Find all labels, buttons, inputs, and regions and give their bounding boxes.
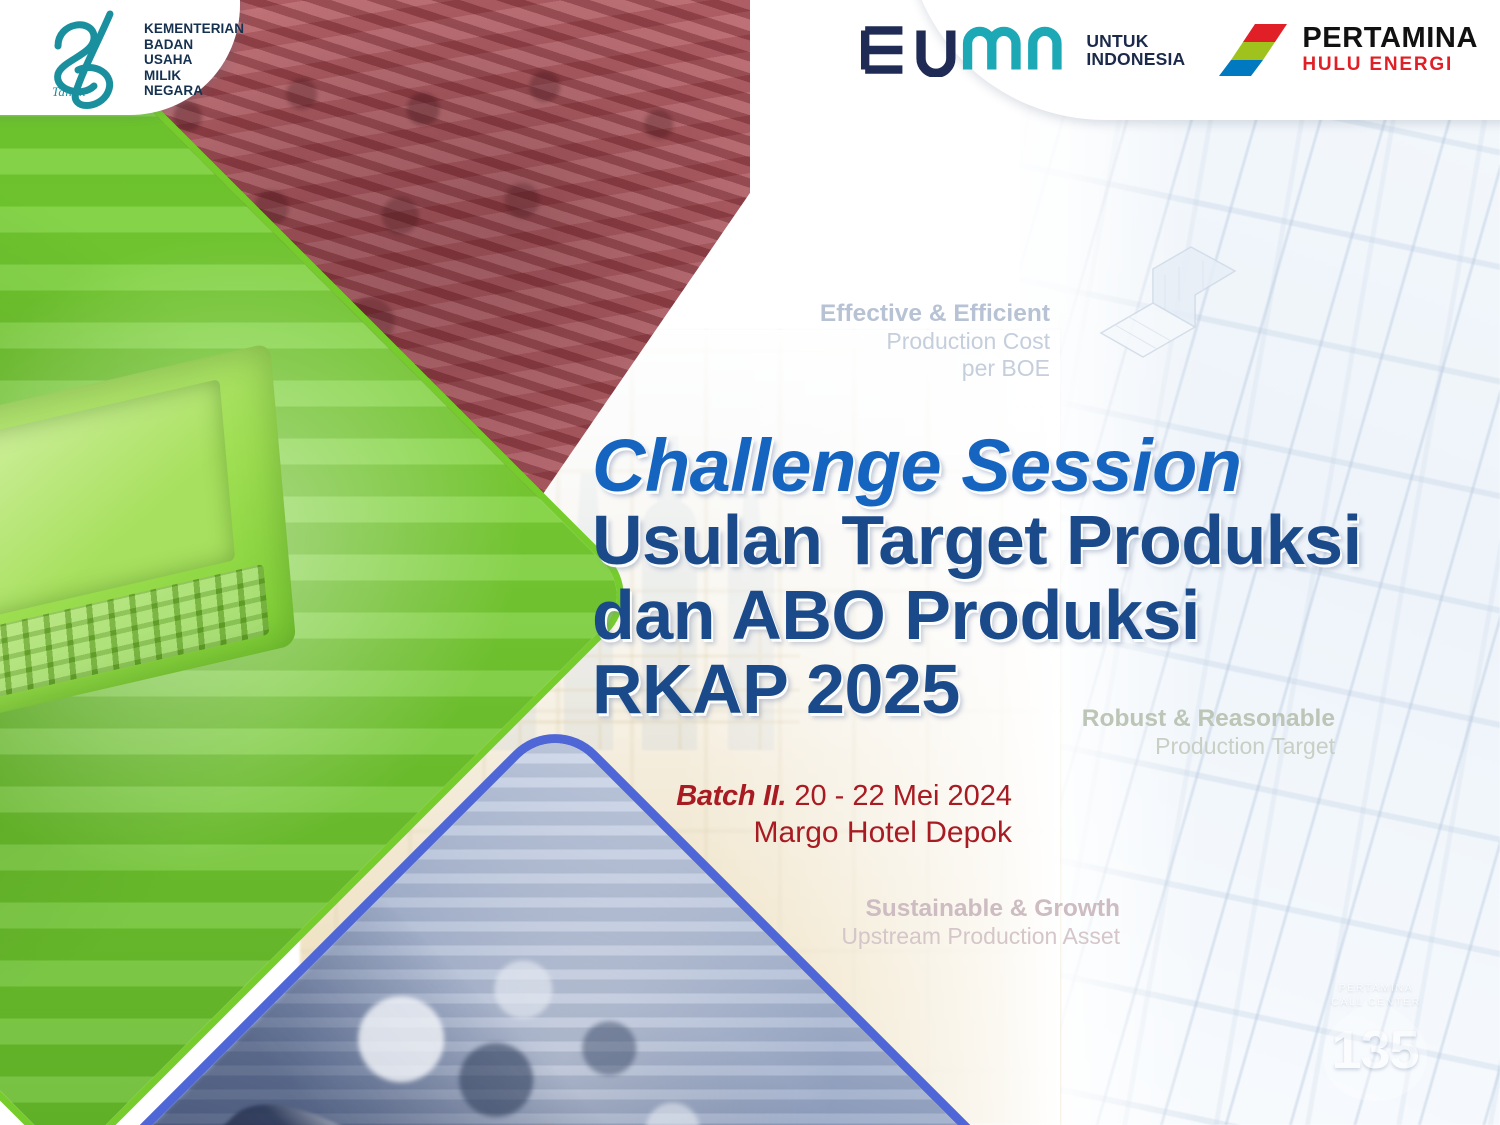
event-venue: Margo Hotel Depok (592, 814, 1012, 852)
pertamina-call-center-badge: PERTAMINA CALL CENTER 135 (1315, 975, 1435, 1105)
ministry-line-1: KEMENTERIAN (144, 21, 244, 37)
title-line-3: dan ABO Produksi (592, 578, 1472, 652)
partner-logos: UNTUK INDONESIA PERTAMINA HULU ENERGI (854, 22, 1478, 78)
call-center-label: PERTAMINA CALL CENTER (1321, 981, 1431, 1009)
tagline-sustainable-growth: Sustainable & Growth Upstream Production… (740, 895, 1120, 950)
ministry-line-5: NEGARA (144, 83, 244, 99)
bumn-wordmark-icon (854, 23, 1077, 77)
title-line-1: Challenge Session (592, 428, 1472, 503)
bumn-26-tahun-icon: Tahun (38, 8, 136, 112)
event-details: Batch II. 20 - 22 Mei 2024 Margo Hotel D… (592, 778, 1012, 852)
event-dates: 20 - 22 Mei 2024 (786, 780, 1012, 812)
isometric-pipe-icon (1095, 225, 1275, 375)
anniversary-years-label: Tahun (52, 84, 86, 100)
call-center-number: 135 (1315, 1019, 1435, 1081)
laptop-icon (0, 343, 296, 742)
ministry-line-2: BADAN (144, 37, 244, 53)
ministry-line-3: USAHA (144, 52, 244, 68)
pertamina-unit: HULU ENERGI (1302, 53, 1478, 77)
bumn-anniversary-logo: Tahun KEMENTERIAN BADAN USAHA MILIK NEGA… (38, 8, 244, 112)
call-center-line2: CALL CENTER (1321, 995, 1431, 1009)
tagline-3-line1: Upstream Production Asset (740, 923, 1120, 950)
call-center-line1: PERTAMINA (1321, 981, 1431, 995)
ministry-name: KEMENTERIAN BADAN USAHA MILIK NEGARA (144, 21, 244, 99)
bumn-untuk-indonesia-logo: UNTUK INDONESIA (854, 23, 1185, 77)
bumn-tagline: UNTUK INDONESIA (1086, 32, 1185, 69)
tagline-effective-efficient: Effective & Efficient Production Cost pe… (700, 300, 1050, 382)
tagline-1-line1: Production Cost (700, 328, 1050, 355)
tagline-3-bold: Sustainable & Growth (740, 895, 1120, 923)
pertamina-text: PERTAMINA HULU ENERGI (1302, 24, 1478, 77)
ministry-line-4: MILIK (144, 68, 244, 84)
poster-canvas: Tahun KEMENTERIAN BADAN USAHA MILIK NEGA… (0, 0, 1500, 1125)
pertamina-hulu-energi-logo: PERTAMINA HULU ENERGI (1219, 22, 1478, 78)
tagline-1-line2: per BOE (700, 355, 1050, 382)
title-line-4: RKAP 2025 (592, 652, 1472, 726)
title-line-2: Usulan Target Produksi (592, 503, 1472, 577)
event-batch-label: Batch II. (676, 780, 786, 812)
pertamina-name: PERTAMINA (1302, 24, 1478, 53)
tagline-2-line1: Production Target (960, 733, 1335, 760)
event-date-row: Batch II. 20 - 22 Mei 2024 (592, 778, 1012, 814)
tagline-1-bold: Effective & Efficient (700, 300, 1050, 328)
pertamina-arrow-icon (1219, 22, 1291, 78)
bumn-tagline-line2: INDONESIA (1086, 50, 1185, 68)
bumn-tagline-line1: UNTUK (1086, 32, 1185, 50)
poster-title: Challenge Session Usulan Target Produksi… (592, 428, 1472, 726)
